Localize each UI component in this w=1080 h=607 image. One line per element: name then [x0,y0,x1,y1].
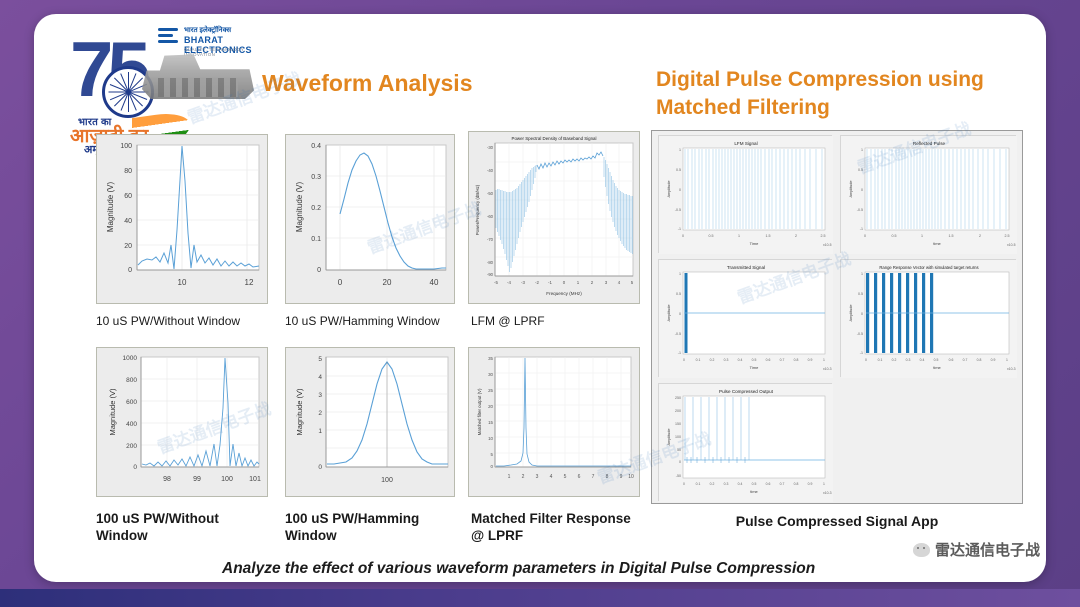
svg-text:-3: -3 [521,280,525,285]
svg-text:Magnitude (V): Magnitude (V) [108,388,117,436]
svg-text:5: 5 [318,356,322,363]
svg-text:x10-3: x10-3 [1007,367,1016,371]
svg-text:0: 0 [865,358,867,362]
svg-text:0: 0 [679,460,681,464]
svg-text:Reflected Pulse: Reflected Pulse [913,141,946,146]
svg-text:-4: -4 [507,280,511,285]
svg-text:200: 200 [126,443,137,450]
svg-text:40: 40 [124,218,132,225]
pulse-compressed-signal-app[interactable]: LFM Signal [651,130,1023,504]
svg-text:-50: -50 [487,191,494,196]
svg-text:0.9: 0.9 [808,358,813,362]
svg-text:0.5: 0.5 [858,168,863,172]
svg-text:2: 2 [979,234,981,238]
subplot-lfm-signal: LFM Signal [658,135,832,253]
svg-text:100: 100 [381,477,393,484]
svg-text:0.5: 0.5 [858,292,863,296]
chart-app-transmitted: Transmitted Signal 10.50 -0.5-1 00.10.2 … [659,260,833,378]
subplot-transmitted-signal: Transmitted Signal 10.50 -0.5-1 00.10.2 … [658,259,832,377]
svg-text:0.8: 0.8 [794,358,799,362]
bel-mark-icon [158,28,180,46]
svg-text:Amplitude: Amplitude [849,181,853,198]
svg-text:0.3: 0.3 [906,358,911,362]
svg-text:-1: -1 [548,280,552,285]
svg-text:1: 1 [508,474,511,480]
svg-text:0.2: 0.2 [710,482,715,486]
svg-text:0.5: 0.5 [752,358,757,362]
svg-text:100: 100 [120,143,132,150]
figure-2: 0.4 0.3 0.2 0.1 0 0 20 40 Magnitude (V) [285,134,455,304]
svg-text:1: 1 [861,272,863,276]
svg-text:LFM Signal: LFM Signal [734,141,757,146]
svg-text:Amplitude: Amplitude [667,305,671,322]
svg-text:0: 0 [861,188,863,192]
svg-text:Range Response Vector with sim: Range Response Vector with simulated tar… [879,265,978,270]
figure-3: Power Spectral Density of Baseband Signa… [468,131,640,304]
svg-text:0: 0 [864,234,866,238]
caption-fig3: LFM @ LPRF [471,314,651,329]
svg-text:0.7: 0.7 [780,482,785,486]
svg-text:1: 1 [823,358,825,362]
bottom-accent-bar [0,589,1080,607]
svg-text:Magnitude (V): Magnitude (V) [295,388,304,436]
svg-text:0.6: 0.6 [949,358,954,362]
svg-text:400: 400 [126,421,137,428]
svg-text:0: 0 [683,482,685,486]
svg-text:35: 35 [488,356,493,361]
bel-hindi-name: भारत इलेक्ट्रॉनिक्स [184,26,231,35]
chart-fig3: Power Spectral Density of Baseband Signa… [469,132,639,303]
svg-text:Matched filter output (V): Matched filter output (V) [477,388,482,435]
svg-text:-1: -1 [860,351,863,355]
svg-text:2: 2 [522,474,525,480]
svg-text:30: 30 [488,372,493,377]
svg-text:-90: -90 [487,272,494,277]
svg-text:0.1: 0.1 [311,236,321,243]
svg-text:15: 15 [488,420,493,425]
svg-text:-40: -40 [487,168,494,173]
svg-text:4: 4 [318,374,322,381]
page-title-right: Digital Pulse Compression using Matched … [656,66,1036,123]
svg-text:1: 1 [921,234,923,238]
chart-fig2: 0.4 0.3 0.2 0.1 0 0 20 40 Magnitude (V) [286,135,454,303]
svg-text:1: 1 [823,482,825,486]
svg-text:10: 10 [488,436,493,441]
svg-text:x10-5: x10-5 [1007,243,1016,247]
svg-text:0.7: 0.7 [780,358,785,362]
wechat-icon [913,543,930,557]
slide-footer-note: Analyze the effect of various waveform p… [222,560,922,578]
svg-text:Frequency (MHz): Frequency (MHz) [546,291,582,296]
svg-text:0.6: 0.6 [766,358,771,362]
svg-text:x10-5: x10-5 [823,243,832,247]
svg-text:0.5: 0.5 [752,482,757,486]
svg-text:Amplitude: Amplitude [667,429,671,446]
svg-text:Amplitude: Amplitude [849,305,853,322]
chart-fig6: 353025 201510 50 123 456 789 10 Matched … [469,348,639,496]
figure-6: 353025 201510 50 123 456 789 10 Matched … [468,347,640,497]
bel-tagline: QUALITY, TECHNOLOGY, INNOVATION [184,47,258,57]
slide-canvas: 75 भारत का आज़ादी का अमृत महोत्सव भारत इ… [34,14,1046,582]
svg-text:250: 250 [675,396,681,400]
svg-text:5: 5 [564,474,567,480]
svg-text:40: 40 [430,278,439,287]
svg-text:0.9: 0.9 [808,482,813,486]
svg-text:4: 4 [550,474,553,480]
svg-text:-80: -80 [487,260,494,265]
svg-text:-1: -1 [860,227,863,231]
svg-text:2: 2 [795,234,797,238]
caption-fig1: 10 uS PW/Without Window [96,314,276,329]
svg-text:-1: -1 [678,227,681,231]
figure-1: 100 80 60 40 20 0 10 12 Magnitude (V) [96,134,268,304]
caption-fig2: 10 uS PW/Hamming Window [285,314,475,329]
svg-text:0.4: 0.4 [738,482,743,486]
svg-text:1: 1 [318,428,322,435]
svg-text:-0.5: -0.5 [857,332,863,336]
svg-text:0.5: 0.5 [676,292,681,296]
chart-app-lfm: LFM Signal [659,136,833,254]
svg-text:9: 9 [620,474,623,480]
svg-text:200: 200 [675,409,681,413]
svg-text:0.2: 0.2 [311,205,321,212]
svg-text:Pulse Compressed Output: Pulse Compressed Output [719,389,774,394]
svg-text:0.2: 0.2 [892,358,897,362]
svg-text:6: 6 [578,474,581,480]
svg-text:0.3: 0.3 [724,358,729,362]
svg-text:25: 25 [488,388,493,393]
svg-text:1: 1 [861,148,863,152]
svg-text:0.4: 0.4 [920,358,925,362]
svg-text:0.8: 0.8 [977,358,982,362]
svg-text:0: 0 [318,464,322,471]
svg-text:60: 60 [124,193,132,200]
chart-fig5: 543 210 100 Magnitude (V) [286,348,454,496]
svg-text:0.3: 0.3 [311,174,321,181]
svg-text:20: 20 [124,243,132,250]
svg-text:2: 2 [318,410,322,417]
svg-text:99: 99 [193,476,201,483]
svg-text:0: 0 [682,234,684,238]
svg-text:80: 80 [124,168,132,175]
caption-fig6: Matched Filter Response @ LPRF [471,511,636,545]
svg-text:x10-3: x10-3 [823,491,832,495]
svg-text:-5: -5 [494,280,498,285]
svg-text:10: 10 [178,278,187,287]
svg-text:20: 20 [383,278,392,287]
svg-text:1: 1 [738,234,740,238]
svg-text:-60: -60 [487,214,494,219]
svg-text:50: 50 [677,448,681,452]
svg-text:time: time [933,241,941,246]
svg-text:Time: Time [750,365,760,370]
svg-text:8: 8 [606,474,609,480]
svg-text:800: 800 [126,377,137,384]
svg-text:600: 600 [126,399,137,406]
subplot-reflected-pulse: Reflected Pulse [840,135,1016,253]
svg-text:Amplitude: Amplitude [667,181,671,198]
svg-text:0.7: 0.7 [963,358,968,362]
svg-text:0: 0 [679,188,681,192]
svg-text:2.5: 2.5 [1005,234,1010,238]
svg-text:1: 1 [679,148,681,152]
chart-fig1: 100 80 60 40 20 0 10 12 Magnitude (V) [97,135,267,303]
page-title-left: Waveform Analysis [262,70,472,97]
svg-text:-0.5: -0.5 [675,208,681,212]
svg-text:3: 3 [318,392,322,399]
svg-text:-1: -1 [678,351,681,355]
svg-text:3: 3 [536,474,539,480]
svg-text:0: 0 [679,312,681,316]
svg-text:2.5: 2.5 [821,234,826,238]
svg-text:Time: Time [750,241,760,246]
svg-text:20: 20 [488,404,493,409]
svg-text:0.1: 0.1 [696,358,701,362]
svg-text:Power Spectral Density of Base: Power Spectral Density of Baseband Signa… [512,136,597,141]
svg-text:0.5: 0.5 [676,168,681,172]
svg-text:101: 101 [249,476,261,483]
svg-text:12: 12 [245,278,254,287]
svg-text:98: 98 [163,476,171,483]
svg-text:0: 0 [128,267,132,274]
svg-text:0.5: 0.5 [934,358,939,362]
svg-text:0.1: 0.1 [696,482,701,486]
svg-text:100: 100 [221,476,233,483]
svg-text:1.5: 1.5 [949,234,954,238]
svg-text:-0.5: -0.5 [675,332,681,336]
svg-text:0: 0 [861,312,863,316]
wechat-watermark: 雷达通信电子战 [913,539,1040,560]
figure-4: 1000800600 4002000 9899 100101 Magnitude… [96,347,268,497]
svg-text:Transmitted Signal: Transmitted Signal [727,265,765,270]
svg-text:Power/Frequency (dB/Hz): Power/Frequency (dB/Hz) [475,184,480,235]
svg-text:10: 10 [628,474,634,480]
svg-text:-30: -30 [487,145,494,150]
svg-text:x10-3: x10-3 [823,367,832,371]
svg-text:-0.5: -0.5 [857,208,863,212]
subplot-pulse-compressed-output: Pulse Compressed Output [658,383,832,501]
svg-text:0.2: 0.2 [710,358,715,362]
svg-text:1: 1 [679,272,681,276]
svg-text:0: 0 [133,464,137,471]
svg-text:0: 0 [683,358,685,362]
svg-text:0.9: 0.9 [991,358,996,362]
svg-text:7: 7 [592,474,595,480]
svg-text:0: 0 [317,267,321,274]
svg-text:-50: -50 [676,474,681,478]
svg-text:0.1: 0.1 [878,358,883,362]
svg-text:1000: 1000 [123,355,138,362]
svg-text:Magnitude (V): Magnitude (V) [295,182,304,233]
chart-app-reflected: Reflected Pulse [841,136,1017,254]
svg-text:0.5: 0.5 [892,234,897,238]
svg-text:0.6: 0.6 [766,482,771,486]
chart-app-range: Range Response Vector with simulated tar… [841,260,1017,378]
svg-text:0.4: 0.4 [311,143,321,150]
svg-text:1: 1 [1006,358,1008,362]
svg-text:0: 0 [338,278,343,287]
figure-5: 543 210 100 Magnitude (V) [285,347,455,497]
svg-text:0.5: 0.5 [709,234,714,238]
chart-fig4: 1000800600 4002000 9899 100101 Magnitude… [97,348,267,496]
svg-text:0.4: 0.4 [738,358,743,362]
svg-text:time: time [750,489,758,494]
caption-fig4: 100 uS PW/Without Window [96,511,256,545]
svg-text:time: time [933,365,941,370]
chart-app-compressed: Pulse Compressed Output [659,384,833,502]
svg-text:100: 100 [675,435,681,439]
svg-text:Magnitude (V): Magnitude (V) [106,182,115,233]
wechat-label: 雷达通信电子战 [935,539,1040,560]
subplot-range-response: Range Response Vector with simulated tar… [840,259,1016,377]
svg-text:150: 150 [675,422,681,426]
svg-text:1.5: 1.5 [766,234,771,238]
caption-app: Pulse Compressed Signal App [651,513,1023,531]
svg-text:-2: -2 [535,280,539,285]
svg-text:0.8: 0.8 [794,482,799,486]
caption-fig5: 100 uS PW/Hamming Window [285,511,445,545]
svg-text:0.3: 0.3 [724,482,729,486]
svg-text:-70: -70 [487,237,494,242]
